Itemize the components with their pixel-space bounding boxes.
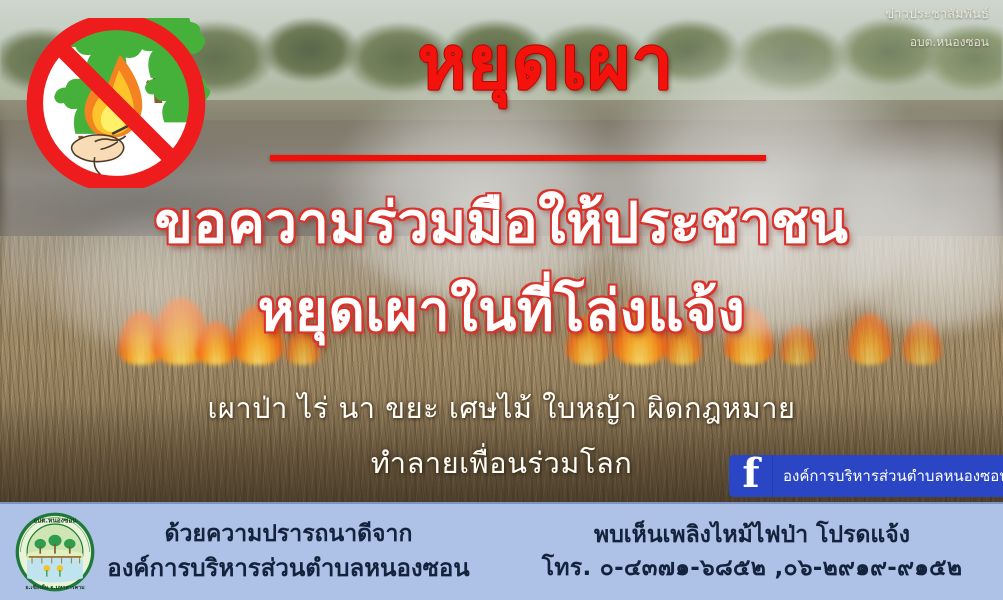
facebook-page-name[interactable]: องค์การบริหารส่วนตำบลหนองซอน — [773, 455, 1003, 497]
footer-right-line1: พบเห็นเพลิงไหม้ไฟป่า โปรดแจ้ง — [501, 519, 1003, 552]
corner-note-line2: อบต.หนองซอน — [885, 36, 989, 49]
no-burning-sign-icon — [18, 18, 214, 188]
municipality-seal-icon: อบต.หนองซอน อ.เชียงยืน จ.มหาสารคาม — [14, 511, 96, 593]
message-line-1: ขอความร่วมมือให้ประชาชน — [0, 192, 1003, 256]
footer-bar: อบต.หนองซอน อ.เชียงยืน จ.มหาสารคาม ด้วยค… — [0, 502, 1003, 600]
seal-top-text: อบต.หนองซอน — [33, 516, 77, 524]
footer-left-line2: องค์การบริหารส่วนตำบลหนองซอน — [96, 551, 481, 586]
corner-note-line1: ข่าวประชาสัมพันธ์ — [885, 8, 989, 22]
public-relations-poster: ข่าวประชาสัมพันธ์ อบต.หนองซอน หยุดเผา ขอ… — [0, 0, 1003, 600]
message-line-2: หยุดเผาในที่โล่งแจ้ง — [0, 280, 1003, 344]
footer-left-text: ด้วยความปรารถนาดีจาก องค์การบริหารส่วนตำ… — [96, 518, 501, 586]
headline: หยุดเผา — [336, 22, 756, 105]
message-line-3: เผาป่า ไร่ นา ขยะ เศษไม้ ใบหญ้า ผิดกฎหมา… — [0, 385, 1003, 431]
footer-left-block: อบต.หนองซอน อ.เชียงยืน จ.มหาสารคาม ด้วยค… — [0, 511, 501, 593]
red-divider-rule — [270, 155, 766, 161]
seal-bottom-text: อ.เชียงยืน จ.มหาสารคาม — [25, 584, 85, 591]
corner-note: ข่าวประชาสัมพันธ์ อบต.หนองซอน — [885, 8, 989, 49]
footer-right-text: พบเห็นเพลิงไหม้ไฟป่า โปรดแจ้ง โทร. ๐-๔๓๗… — [501, 519, 1003, 586]
facebook-badge[interactable]: องค์การบริหารส่วนตำบลหนองซอน — [729, 455, 1003, 497]
footer-left-line1: ด้วยความปรารถนาดีจาก — [96, 518, 481, 551]
facebook-icon[interactable] — [729, 455, 773, 497]
footer-right-phone: โทร. ๐-๔๓๗๑-๖๘๕๒ ,๐๖-๒๙๑๙-๙๑๕๒ — [501, 552, 1003, 585]
